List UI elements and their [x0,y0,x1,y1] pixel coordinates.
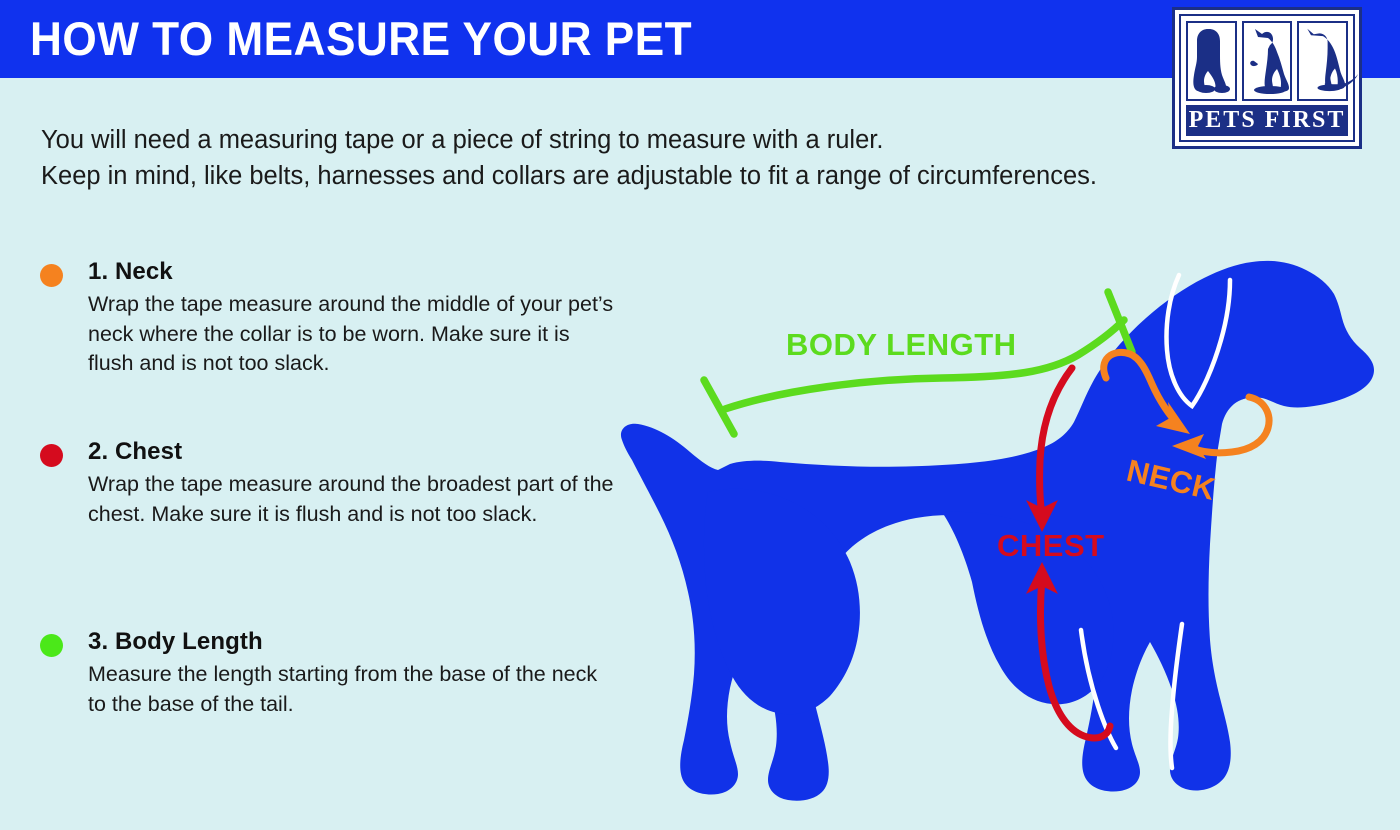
step-body-neck: Wrap the tape measure around the middle … [88,290,618,379]
step-bullet-body-length [40,634,63,657]
logo-dog-howling-icon [1242,21,1293,101]
pets-first-logo: PETS FIRST [1172,7,1362,149]
annotation-label-body-length: BODY LENGTH [786,327,1017,362]
step-bullet-chest [40,444,63,467]
logo-brand-text: PETS FIRST [1186,105,1348,136]
logo-frame: PETS FIRST [1179,14,1355,142]
annotation-body-length: BODY LENGTH [704,292,1132,434]
logo-brand-label: PETS FIRST [1189,107,1346,134]
step-item-neck: 1. Neck Wrap the tape measure around the… [38,258,628,438]
step-body-chest: Wrap the tape measure around the broades… [88,470,618,529]
intro-text: You will need a measuring tape or a piec… [41,122,1161,194]
measurement-steps-list: 1. Neck Wrap the tape measure around the… [38,258,628,719]
logo-dog-panels [1186,21,1348,101]
step-body-body-length: Measure the length starting from the bas… [88,660,618,719]
intro-line-1: You will need a measuring tape or a piec… [41,122,1161,158]
step-title-chest: 2. Chest [88,438,628,466]
intro-line-2: Keep in mind, like belts, harnesses and … [41,158,1161,194]
dog-measurement-diagram: BODY LENGTH CHEST [612,212,1400,830]
step-title-neck: 1. Neck [88,258,628,286]
step-item-body-length: 3. Body Length Measure the length starti… [38,628,628,719]
logo-dog-shepherd-icon [1297,21,1348,101]
step-title-body-length: 3. Body Length [88,628,628,656]
page-title: HOW TO MEASURE YOUR PET [30,14,692,64]
logo-dog-sitting-icon [1186,21,1237,101]
step-item-chest: 2. Chest Wrap the tape measure around th… [38,438,628,628]
step-bullet-neck [40,264,63,287]
infographic-page: HOW TO MEASURE YOUR PET [0,0,1400,830]
annotation-label-chest: CHEST [997,528,1105,563]
